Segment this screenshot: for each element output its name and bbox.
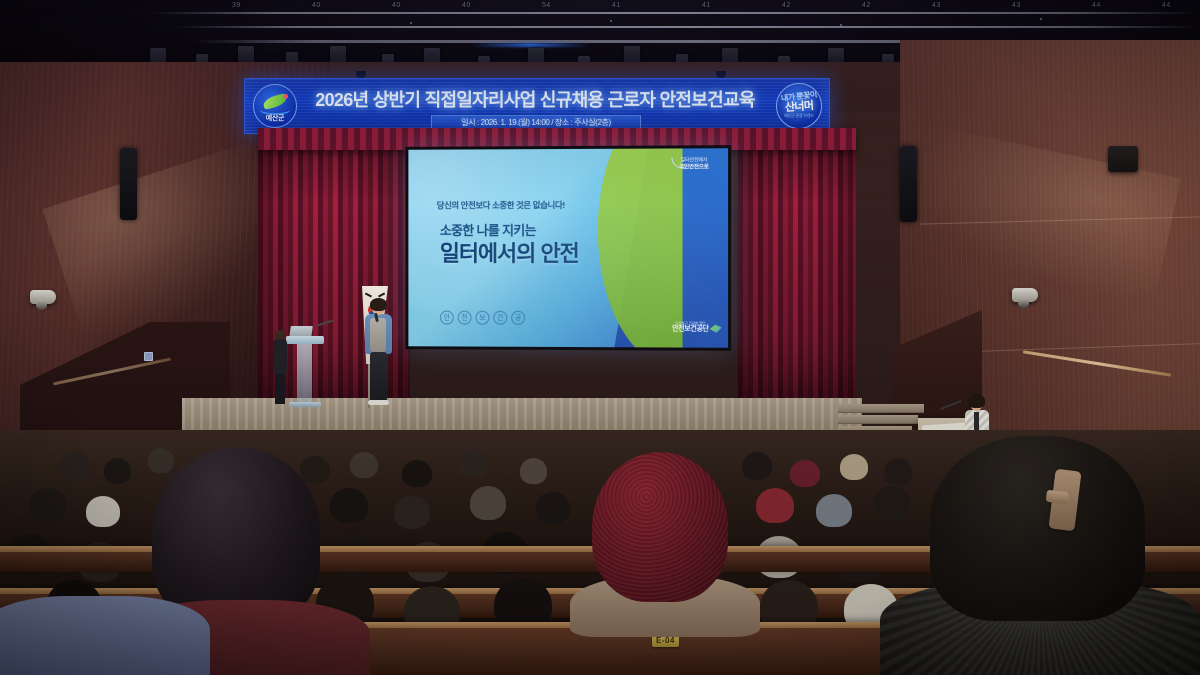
presenter-shoes bbox=[368, 400, 389, 405]
presentation-slide: 당신의 안전보다 소중한 것은 없습니다! 소중한 나를 지키는 일터에서의 안… bbox=[408, 148, 728, 348]
safety-badge-icon: 건 bbox=[493, 311, 507, 325]
wall-speaker bbox=[1108, 146, 1138, 172]
slide-top-logo: 일터안전에서 국민안전으로 bbox=[679, 158, 709, 170]
banner-mount bbox=[356, 71, 366, 78]
blue-ceiling-light bbox=[470, 43, 590, 47]
line-array-speaker bbox=[900, 146, 917, 222]
lectern-top bbox=[286, 336, 324, 344]
truss-marker: 42 bbox=[862, 2, 871, 9]
truss-marker: 44 bbox=[1162, 2, 1171, 9]
truss-marker: 41 bbox=[612, 2, 621, 9]
foreground-person-left-head bbox=[152, 448, 320, 623]
truss-marker: 39 bbox=[232, 2, 241, 9]
staff-head bbox=[275, 330, 285, 340]
truss-marker: 42 bbox=[782, 2, 791, 9]
slide-bottom-logo: 안전하고 건강한 일터 안전보건공단 bbox=[672, 321, 709, 333]
audience-head bbox=[148, 448, 174, 473]
staff-body bbox=[273, 339, 287, 375]
slide-badge-row: 안 전 보 건 공 bbox=[440, 311, 525, 325]
truss-marker: 44 bbox=[1092, 2, 1101, 9]
foreground-person-red-beanie bbox=[592, 452, 728, 602]
audience-head bbox=[840, 454, 868, 480]
audience-head bbox=[402, 460, 432, 487]
audience-head bbox=[756, 488, 794, 523]
audience-head bbox=[330, 488, 368, 523]
presenter bbox=[361, 300, 395, 408]
wall-switch-plate bbox=[144, 352, 153, 361]
slide-bottom-logo-line-2: 안전보건공단 bbox=[672, 325, 709, 333]
slide-kicker-text: 당신의 안전보다 소중한 것은 없습니다! bbox=[437, 199, 565, 211]
projection-screen: 당신의 안전보다 소중한 것은 없습니다! 소중한 나를 지키는 일터에서의 안… bbox=[405, 145, 731, 351]
truss-marker: 43 bbox=[1012, 2, 1021, 9]
audience-head bbox=[86, 496, 120, 527]
banner-title: 2026년 상반기 직접일자리사업 신규채용 근로자 안전보건교육 bbox=[305, 85, 765, 112]
audience-head bbox=[884, 458, 912, 485]
truss-marker: 43 bbox=[932, 2, 941, 9]
emblem-line-2: 산너머 bbox=[784, 101, 813, 115]
foreground-person-far-left bbox=[0, 596, 210, 675]
audience-head bbox=[60, 452, 90, 480]
audience-head bbox=[350, 452, 378, 478]
truss-marker: 54 bbox=[542, 2, 551, 9]
led-banner: 예산군 2026년 상반기 직접일자리사업 신규채용 근로자 안전보건교육 일시… bbox=[244, 78, 830, 134]
tourism-emblem: 내가 뿐꽃이 산너머 예산군 관광 브랜드 bbox=[776, 83, 822, 129]
line-array-speaker bbox=[120, 148, 137, 220]
safety-badge-icon: 공 bbox=[511, 311, 525, 325]
audience-head bbox=[470, 486, 506, 520]
ceiling-light-dot bbox=[840, 24, 842, 26]
audience-head bbox=[104, 458, 131, 484]
security-camera-icon bbox=[1012, 288, 1038, 302]
auditorium-scene: 39 40 40 40 54 41 41 42 42 43 43 44 44 bbox=[0, 0, 1200, 675]
truss-marker: 40 bbox=[312, 2, 321, 9]
presenter-hair bbox=[370, 298, 387, 311]
staff-legs bbox=[275, 374, 285, 404]
stage-step bbox=[838, 404, 924, 413]
truss-marker: 40 bbox=[462, 2, 471, 9]
glass-lectern bbox=[286, 336, 324, 408]
audience-head bbox=[874, 486, 910, 520]
audience-head bbox=[460, 450, 489, 477]
lectern-base bbox=[289, 402, 321, 407]
slide-heading: 일터에서의 안전 bbox=[440, 236, 579, 268]
banner-mount bbox=[716, 71, 726, 78]
stage-side-staff bbox=[272, 330, 288, 404]
truss-marker: 41 bbox=[702, 2, 711, 9]
truss-marker: 40 bbox=[392, 2, 401, 9]
foreground-person-right-head bbox=[930, 436, 1145, 621]
safety-badge-icon: 전 bbox=[458, 311, 472, 325]
logo-label: 예산군 bbox=[266, 113, 284, 123]
audience-head bbox=[742, 452, 772, 480]
presenter-trousers bbox=[370, 352, 387, 402]
yesan-county-logo: 예산군 bbox=[253, 84, 297, 128]
audience-head bbox=[536, 492, 570, 524]
lectern-column bbox=[297, 344, 312, 402]
lighting-truss-row-1 bbox=[150, 12, 1200, 14]
stage-step bbox=[838, 415, 918, 424]
ceiling-light-dot bbox=[1040, 18, 1042, 20]
audience-head bbox=[520, 458, 547, 484]
safety-badge-icon: 보 bbox=[475, 311, 489, 325]
security-camera-icon bbox=[30, 290, 56, 304]
interpreter-hair bbox=[968, 394, 985, 408]
audience-head bbox=[394, 496, 430, 529]
audience-head bbox=[816, 494, 852, 527]
lighting-truss-row-2 bbox=[175, 26, 1200, 28]
emblem-line-3: 예산군 관광 브랜드 bbox=[784, 114, 814, 118]
audience-head bbox=[790, 460, 820, 487]
ceiling-light-dot bbox=[610, 20, 612, 22]
flag-trigram-bar bbox=[365, 292, 372, 297]
flag-trigram-bar bbox=[378, 292, 385, 297]
ceiling-light-dot bbox=[410, 22, 412, 24]
stage-curtain-right bbox=[738, 128, 856, 428]
presenter-vest bbox=[370, 318, 386, 352]
audience-head bbox=[300, 456, 330, 484]
safety-badge-icon: 안 bbox=[440, 311, 454, 325]
audience-head bbox=[30, 488, 66, 521]
dot-icon bbox=[283, 94, 288, 99]
